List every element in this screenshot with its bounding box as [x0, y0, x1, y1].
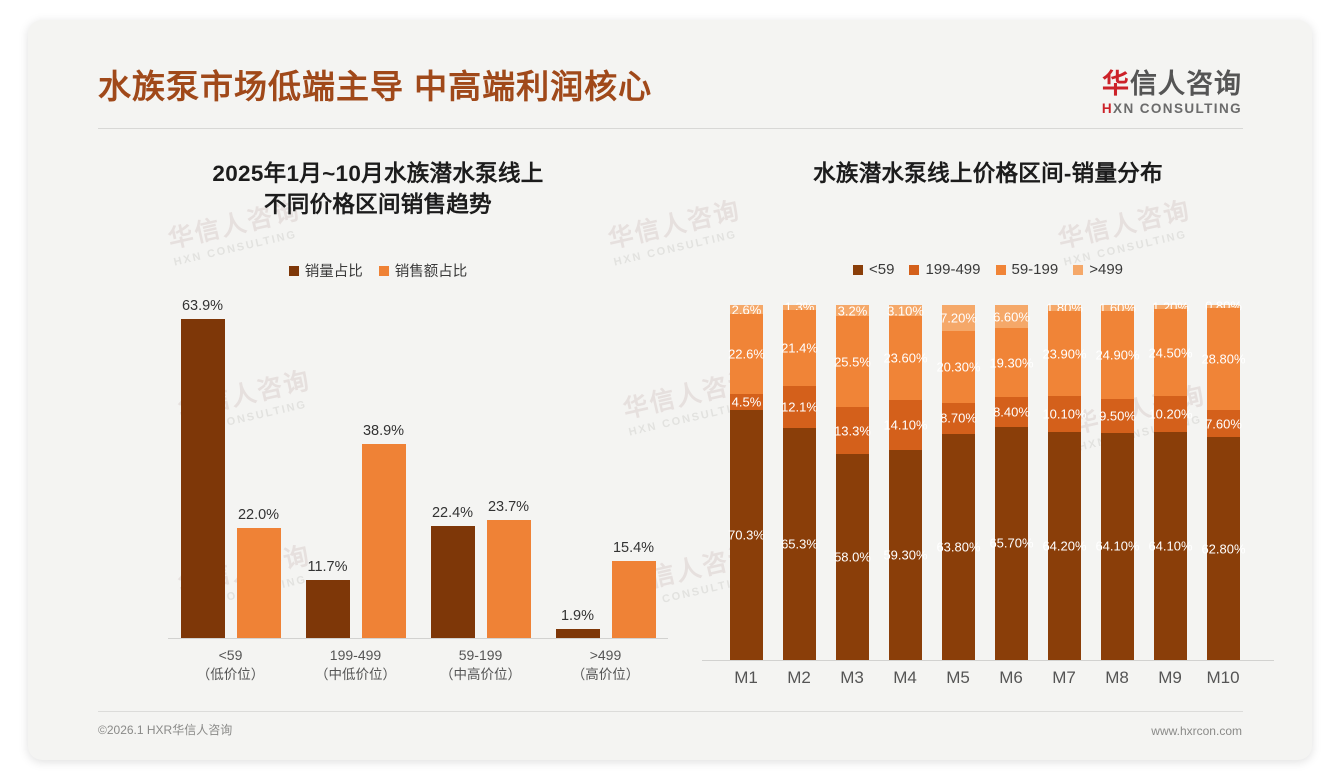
stacked-bar-segment[interactable]: 59.30% [889, 450, 922, 660]
segment-value-label: 10.20% [1148, 407, 1192, 422]
stacked-bar-segment[interactable]: 64.10% [1101, 433, 1134, 660]
stacked-bar-segment[interactable]: 13.3% [836, 407, 869, 454]
segment-value-label: 8.40% [993, 404, 1030, 419]
x-axis-category-label: 59-199（中高价位） [418, 645, 543, 685]
legend-item-label: 销量占比 [305, 260, 363, 281]
stacked-bar-segment[interactable]: 6.60% [995, 305, 1028, 328]
x-axis-label-sub: （高价位） [543, 665, 668, 685]
segment-value-label: 64.20% [1042, 539, 1086, 554]
segment-value-label: 58.0% [834, 550, 871, 565]
legend-swatch-icon [289, 266, 299, 276]
stacked-bar-segment[interactable]: 3.10% [889, 305, 922, 316]
stacked-bar-segment[interactable]: 20.30% [942, 331, 975, 403]
logo-en-rest: XN CONSULTING [1113, 101, 1242, 116]
legend-item-label: <59 [869, 261, 894, 278]
chart-bar[interactable]: 15.4% [612, 561, 656, 638]
segment-value-label: 24.90% [1095, 347, 1139, 362]
x-axis-month-label: M4 [875, 668, 935, 688]
right-chart-axis-line [702, 660, 1274, 661]
legend-item-label: 59-199 [1012, 261, 1059, 278]
stacked-bar-segment[interactable]: 65.70% [995, 427, 1028, 660]
logo-rest-chars: 信人咨询 [1130, 69, 1242, 99]
segment-value-label: 23.60% [883, 350, 927, 365]
stacked-bar-segment[interactable]: 21.4% [783, 310, 816, 386]
segment-value-label: 24.50% [1148, 345, 1192, 360]
x-axis-category-label: <59（低价位） [168, 645, 293, 685]
bar-fill [181, 319, 225, 639]
right-chart-legend: <59199-49959-199>499 [688, 261, 1288, 278]
segment-value-label: 21.4% [781, 340, 818, 355]
company-logo: 华信人咨询 HXN CONSULTING [1102, 70, 1242, 116]
stacked-bar[interactable]: 1.80%23.90%10.10%64.20% [1048, 305, 1081, 660]
footer-divider [98, 711, 1243, 712]
header-divider [98, 128, 1243, 129]
stacked-bar-segment[interactable]: 65.3% [783, 428, 816, 660]
legend-item-label: 销售额占比 [395, 260, 468, 281]
stacked-bar-segment[interactable]: 25.5% [836, 316, 869, 407]
segment-value-label: 23.90% [1042, 346, 1086, 361]
legend-item[interactable]: 59-199 [996, 261, 1059, 278]
legend-item-label: 199-499 [925, 261, 980, 278]
chart-bar[interactable]: 38.9% [362, 444, 406, 639]
stacked-bar[interactable]: 1.3%21.4%12.1%65.3% [783, 305, 816, 660]
x-axis-category-label: >499（高价位） [543, 645, 668, 685]
x-axis-label-main: <59 [219, 647, 243, 663]
left-chart-axis-line [168, 638, 668, 639]
stacked-bar[interactable]: 0.80%28.80%7.60%62.80% [1207, 305, 1240, 660]
segment-value-label: 6.60% [993, 309, 1030, 324]
logo-english-text: HXN CONSULTING [1102, 101, 1242, 116]
segment-value-label: 12.1% [781, 399, 818, 414]
legend-swatch-icon [1073, 265, 1083, 275]
stacked-bar-segment[interactable]: 22.6% [730, 314, 763, 394]
right-chart-title: 水族潜水泵线上价格区间-销量分布 [688, 158, 1288, 189]
stacked-bar-segment[interactable]: 64.10% [1154, 432, 1187, 660]
stacked-bar-segment[interactable]: 58.0% [836, 454, 869, 660]
segment-value-label: 13.3% [834, 423, 871, 438]
stacked-bar-segment[interactable]: 7.20% [942, 305, 975, 331]
right-chart-panel: 水族潜水泵线上价格区间-销量分布 <59199-49959-199>499 2.… [688, 140, 1288, 710]
bar-group: 63.9%22.0% [168, 308, 293, 638]
legend-swatch-icon [909, 265, 919, 275]
x-axis-label-sub: （中高价位） [418, 665, 543, 685]
bar-fill [556, 629, 600, 639]
chart-bar[interactable]: 22.0% [237, 528, 281, 638]
stacked-bar-segment[interactable]: 23.90% [1048, 311, 1081, 396]
logo-accent-char: 华 [1102, 69, 1130, 99]
x-axis-month-label: M3 [822, 668, 882, 688]
x-axis-month-label: M10 [1193, 668, 1253, 688]
segment-value-label: 28.80% [1201, 351, 1245, 366]
segment-value-label: 25.5% [834, 354, 871, 369]
legend-item[interactable]: >499 [1073, 261, 1123, 278]
left-chart-panel: 2025年1月~10月水族潜水泵线上 不同价格区间销售趋势 销量占比销售额占比 … [68, 140, 688, 710]
x-axis-month-label: M2 [769, 668, 829, 688]
segment-value-label: 19.30% [989, 355, 1033, 370]
right-chart-plot-area: 2.6%22.6%4.5%70.3%1.3%21.4%12.1%65.3%3.2… [708, 305, 1268, 660]
legend-swatch-icon [996, 265, 1006, 275]
stacked-bar-segment[interactable]: 28.80% [1207, 308, 1240, 410]
bar-fill [431, 526, 475, 638]
x-axis-month-label: M6 [981, 668, 1041, 688]
footer-copyright: ©2026.1 HXR华信人咨询 [98, 721, 232, 738]
bar-fill [306, 580, 350, 639]
x-axis-month-label: M7 [1034, 668, 1094, 688]
left-chart-title: 2025年1月~10月水族潜水泵线上 不同价格区间销售趋势 [68, 158, 688, 220]
bar-value-label: 38.9% [363, 423, 404, 439]
chart-bar[interactable]: 1.9% [556, 629, 600, 639]
segment-value-label: 4.5% [732, 395, 762, 410]
stacked-bar-segment[interactable]: 2.6% [730, 305, 763, 314]
logo-en-accent: H [1102, 101, 1113, 116]
bar-group: 22.4%23.7% [418, 308, 543, 638]
chart-bar[interactable]: 22.4% [431, 526, 475, 638]
page-title: 水族泵市场低端主导 中高端利润核心 [98, 60, 652, 108]
footer-website: www.hxrcon.com [1151, 724, 1242, 738]
segment-value-label: 20.30% [936, 359, 980, 374]
stacked-bar-segment[interactable]: 62.80% [1207, 437, 1240, 660]
bar-fill [362, 444, 406, 639]
left-chart-legend: 销量占比销售额占比 [68, 260, 688, 281]
legend-item[interactable]: 销量占比 [289, 260, 363, 281]
chart-bar[interactable]: 11.7% [306, 580, 350, 639]
stacked-bar[interactable]: 6.60%19.30%8.40%65.70% [995, 305, 1028, 660]
stacked-bar-segment[interactable]: 10.20% [1154, 396, 1187, 432]
bar-fill [487, 520, 531, 639]
bar-group: 1.9%15.4% [543, 308, 668, 638]
segment-value-label: 62.80% [1201, 541, 1245, 556]
bar-value-label: 15.4% [613, 540, 654, 556]
legend-item[interactable]: 销售额占比 [379, 260, 468, 281]
x-axis-label-sub: （低价位） [168, 665, 293, 685]
stacked-bar-segment[interactable]: 24.50% [1154, 309, 1187, 396]
segment-value-label: 9.50% [1099, 408, 1136, 423]
bar-fill [612, 561, 656, 638]
segment-value-label: 59.30% [883, 547, 927, 562]
segment-value-label: 22.6% [728, 347, 765, 362]
bar-value-label: 1.9% [561, 608, 594, 624]
x-axis-label-main: 59-199 [459, 647, 503, 663]
stacked-bar[interactable]: 3.2%25.5%13.3%58.0% [836, 305, 869, 660]
stacked-bar-segment[interactable]: 23.60% [889, 316, 922, 400]
stacked-bar[interactable]: 7.20%20.30%8.70%63.80% [942, 305, 975, 660]
segment-value-label: 7.60% [1205, 416, 1242, 431]
bar-group: 11.7%38.9% [293, 308, 418, 638]
slide-header: 水族泵市场低端主导 中高端利润核心 华信人咨询 HXN CONSULTING [28, 20, 1312, 123]
stacked-bar-segment[interactable]: 12.1% [783, 386, 816, 429]
stacked-bar-segment[interactable]: 8.70% [942, 403, 975, 434]
bar-value-label: 22.0% [238, 507, 279, 523]
stacked-bar-segment[interactable]: 19.30% [995, 328, 1028, 397]
x-axis-label-main: 199-499 [330, 647, 381, 663]
stacked-bar-segment[interactable]: 24.90% [1101, 311, 1134, 399]
bar-value-label: 23.7% [488, 499, 529, 515]
bar-fill [237, 528, 281, 638]
stacked-bar[interactable]: 2.6%22.6%4.5%70.3% [730, 305, 763, 660]
segment-value-label: 14.10% [883, 417, 927, 432]
segment-value-label: 64.10% [1148, 539, 1192, 554]
legend-swatch-icon [853, 265, 863, 275]
x-axis-month-label: M8 [1087, 668, 1147, 688]
left-chart-plot-area: 63.9%22.0%11.7%38.9%22.4%23.7%1.9%15.4% [168, 308, 668, 638]
stacked-bar-segment[interactable]: 14.10% [889, 400, 922, 450]
x-axis-month-label: M9 [1140, 668, 1200, 688]
slide-canvas: 华信人咨询 HXN CONSULTING 华信人咨询 HXN CONSULTIN… [28, 20, 1312, 760]
stacked-bar-segment[interactable]: 9.50% [1101, 399, 1134, 433]
bar-value-label: 63.9% [182, 298, 223, 314]
segment-value-label: 70.3% [728, 528, 765, 543]
stacked-bar-segment[interactable]: 70.3% [730, 410, 763, 660]
x-axis-label-sub: （中低价位） [293, 665, 418, 685]
stacked-bar-segment[interactable]: 64.20% [1048, 432, 1081, 660]
chart-bar[interactable]: 63.9% [181, 319, 225, 639]
stacked-bar-segment[interactable]: 8.40% [995, 397, 1028, 427]
segment-value-label: 65.70% [989, 536, 1033, 551]
segment-value-label: 7.20% [940, 310, 977, 325]
stacked-bar-segment[interactable]: 63.80% [942, 434, 975, 660]
segment-value-label: 10.10% [1042, 407, 1086, 422]
segment-value-label: 65.3% [781, 537, 818, 552]
stacked-bar-segment[interactable]: 10.10% [1048, 396, 1081, 432]
x-axis-month-label: M1 [716, 668, 776, 688]
segment-value-label: 63.80% [936, 539, 980, 554]
bar-value-label: 22.4% [432, 505, 473, 521]
stacked-bar-segment[interactable]: 7.60% [1207, 410, 1240, 437]
logo-chinese-text: 华信人咨询 [1102, 70, 1242, 98]
segment-value-label: 64.10% [1095, 539, 1139, 554]
stacked-bar[interactable]: 1.60%24.90%9.50%64.10% [1101, 305, 1134, 660]
chart-bar[interactable]: 23.7% [487, 520, 531, 639]
stacked-bar-segment[interactable]: 3.2% [836, 305, 869, 316]
segment-value-label: 8.70% [940, 411, 977, 426]
stacked-bar[interactable]: 1.20%24.50%10.20%64.10% [1154, 305, 1187, 660]
x-axis-label-main: >499 [590, 647, 622, 663]
left-chart-title-line1: 2025年1月~10月水族潜水泵线上 [68, 158, 688, 189]
legend-item[interactable]: 199-499 [909, 261, 980, 278]
x-axis-category-label: 199-499（中低价位） [293, 645, 418, 685]
legend-item[interactable]: <59 [853, 261, 894, 278]
stacked-bar-segment[interactable]: 4.5% [730, 394, 763, 410]
legend-swatch-icon [379, 266, 389, 276]
bar-value-label: 11.7% [307, 559, 347, 575]
stacked-bar[interactable]: 3.10%23.60%14.10%59.30% [889, 305, 922, 660]
left-chart-title-line2: 不同价格区间销售趋势 [68, 189, 688, 220]
x-axis-month-label: M5 [928, 668, 988, 688]
legend-item-label: >499 [1089, 261, 1123, 278]
